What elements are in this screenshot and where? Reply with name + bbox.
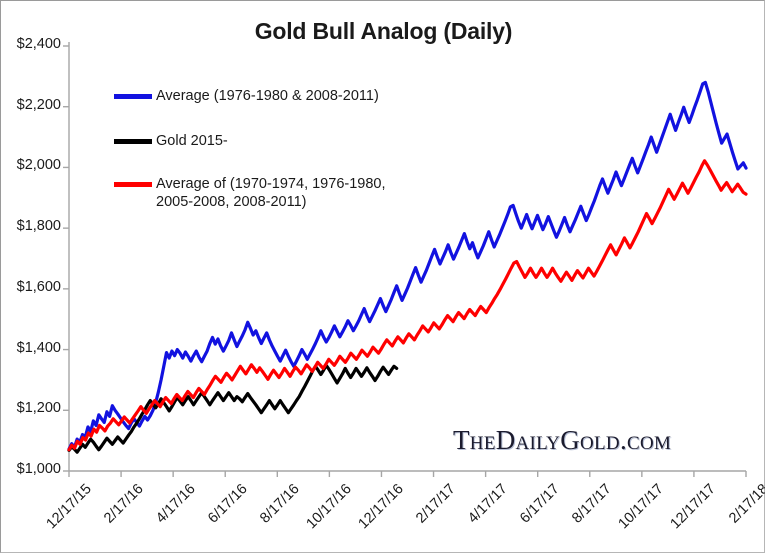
legend-item-black: Gold 2015- bbox=[114, 132, 228, 150]
plot-area bbox=[1, 1, 765, 554]
legend-swatch-blue bbox=[114, 94, 152, 99]
y-axis-tick-label: $2,000 bbox=[3, 157, 61, 173]
y-axis-tick-label: $1,000 bbox=[3, 461, 61, 477]
legend-label-blue: Average (1976-1980 & 2008-2011) bbox=[156, 87, 379, 105]
y-axis-tick-label: $2,400 bbox=[3, 36, 61, 52]
legend-swatch-red bbox=[114, 182, 152, 187]
legend-label-red: Average of (1970-1974, 1976-1980, 2005-2… bbox=[156, 175, 386, 211]
chart-container: Gold Bull Analog (Daily) Average (1976-1… bbox=[0, 0, 765, 553]
y-axis-tick-label: $1,800 bbox=[3, 218, 61, 234]
y-axis-tick-label: $1,400 bbox=[3, 340, 61, 356]
y-axis-tick-label: $1,200 bbox=[3, 400, 61, 416]
y-axis-tick-label: $2,200 bbox=[3, 97, 61, 113]
legend-swatch-black bbox=[114, 139, 152, 144]
watermark-thedailygold: TheDailyGold.com bbox=[453, 425, 671, 456]
y-axis-tick-label: $1,600 bbox=[3, 279, 61, 295]
legend-label-black: Gold 2015- bbox=[156, 132, 228, 150]
legend-item-red: Average of (1970-1974, 1976-1980, 2005-2… bbox=[114, 175, 386, 211]
legend-item-blue: Average (1976-1980 & 2008-2011) bbox=[114, 87, 379, 105]
